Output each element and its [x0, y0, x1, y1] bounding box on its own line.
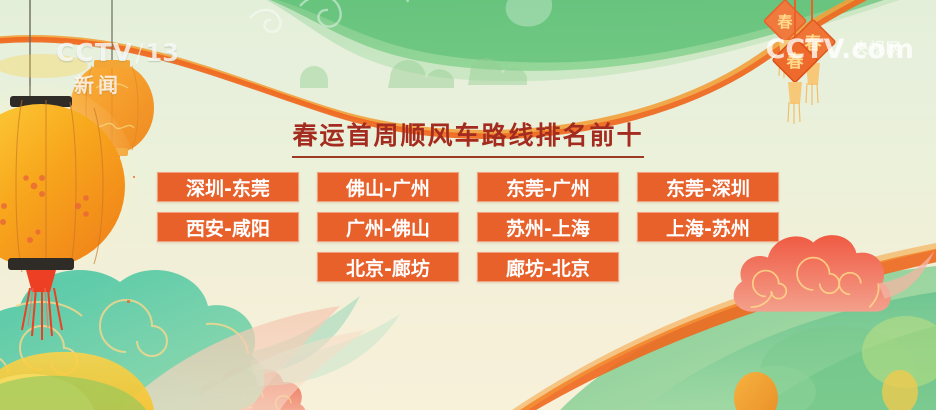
broadcast-graphic: 春 春: [0, 0, 936, 410]
cctv-channel-logo: CCTV/13 新闻: [56, 38, 179, 98]
route-row-1: 深圳-东莞 佛山-广州 东莞-广州 东莞-深圳: [0, 172, 936, 202]
title-container: 春运首周顺风车路线排名前十: [0, 122, 936, 158]
cctv-com-watermark: 央视网 CCTV.com: [766, 36, 914, 64]
route-tag[interactable]: 北京-廊坊: [317, 252, 459, 282]
route-row-3: 北京-廊坊 廊坊-北京: [0, 252, 936, 282]
route-tag[interactable]: 苏州-上海: [477, 212, 619, 242]
route-tag[interactable]: 广州-佛山: [317, 212, 459, 242]
cctv-channel-sub-label: 新闻: [74, 69, 179, 98]
page-title: 春运首周顺风车路线排名前十: [292, 122, 643, 158]
cctv-slash: /: [133, 38, 145, 67]
cctv-channel-number: 13: [146, 39, 179, 67]
route-tag[interactable]: 佛山-广州: [317, 172, 459, 202]
route-tag[interactable]: 廊坊-北京: [477, 252, 619, 282]
watermark-cn-label: 央视网: [854, 37, 902, 58]
route-tag[interactable]: 东莞-广州: [477, 172, 619, 202]
route-tag[interactable]: 深圳-东莞: [157, 172, 299, 202]
route-tag[interactable]: 西安-咸阳: [157, 212, 299, 242]
route-row-2: 西安-咸阳 广州-佛山 苏州-上海 上海-苏州: [0, 212, 936, 242]
route-tag[interactable]: 上海-苏州: [637, 212, 779, 242]
cctv-wordmark: CCTV: [56, 40, 133, 65]
route-tag-list: 深圳-东莞 佛山-广州 东莞-广州 东莞-深圳 西安-咸阳 广州-佛山 苏州-上…: [0, 172, 936, 292]
route-tag[interactable]: 东莞-深圳: [637, 172, 779, 202]
